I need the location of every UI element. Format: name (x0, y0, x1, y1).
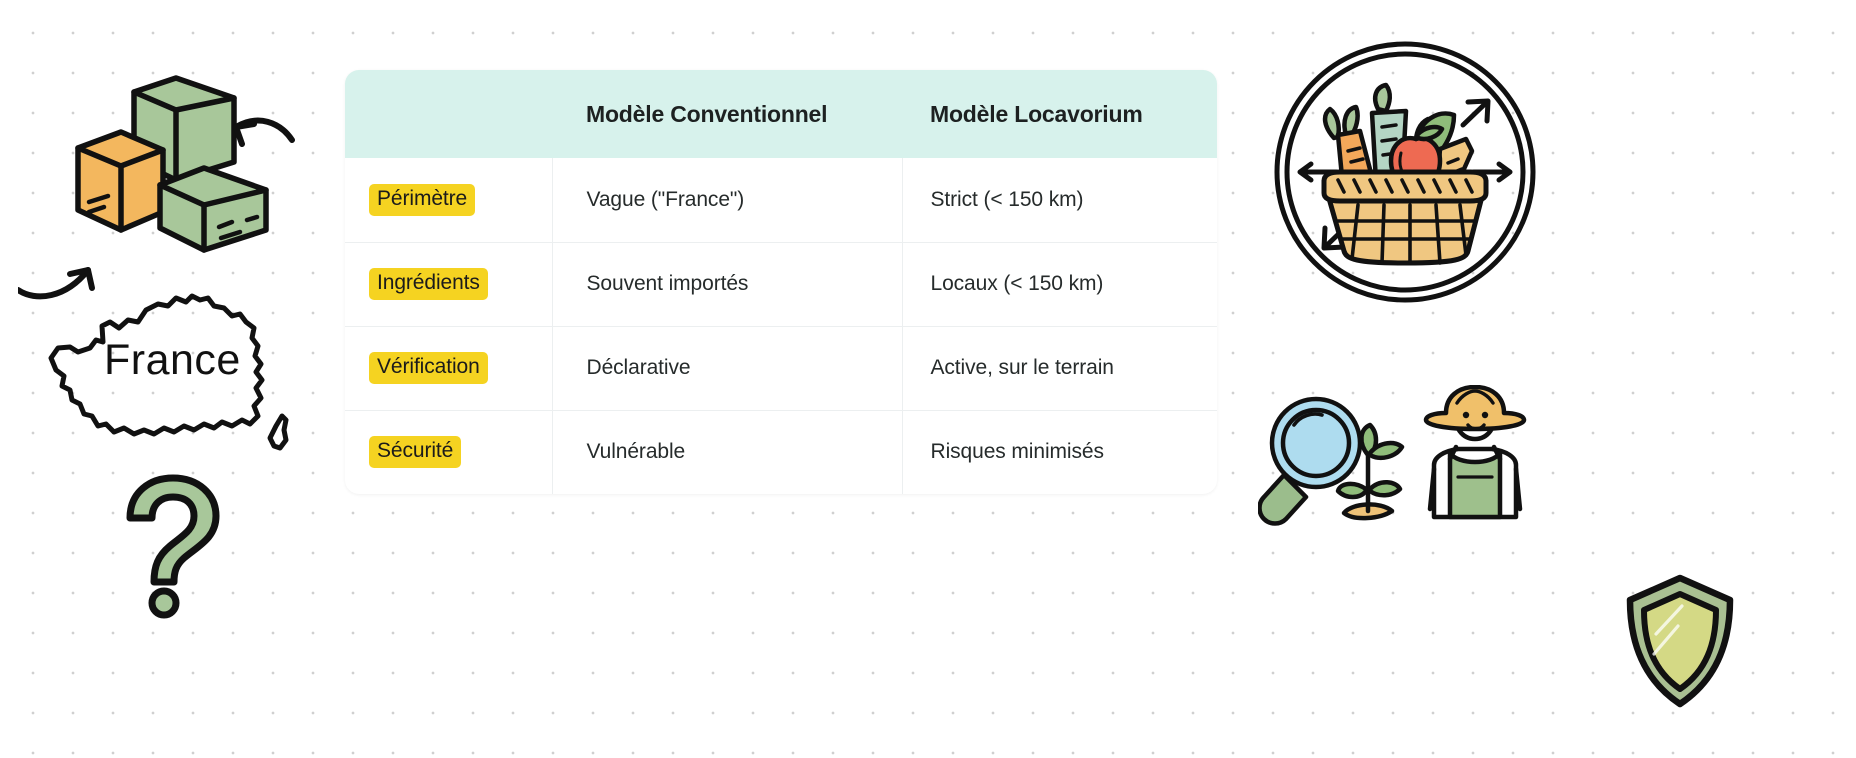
cardboard-boxes-icon (8, 52, 308, 262)
table-row: Sécurité Vulnérable Risques minimisés (345, 410, 1217, 494)
column-header-conventional: Modèle Conventionnel (552, 70, 902, 158)
left-illustration-group: France (0, 0, 345, 758)
conventional-cell: Vague ("France") (552, 158, 902, 242)
security-shield-icon (1620, 572, 1740, 717)
question-mark-icon (110, 470, 240, 625)
field-inspection-icon (1258, 385, 1558, 570)
france-map-label: France (104, 336, 241, 384)
france-map-icon: France (18, 248, 318, 471)
comparison-table: Modèle Conventionnel Modèle Locavorium P… (345, 70, 1217, 494)
conventional-cell: Déclarative (552, 326, 902, 410)
row-attribute-cell: Ingrédients (345, 242, 552, 326)
table-header-row: Modèle Conventionnel Modèle Locavorium (345, 70, 1217, 158)
locavorium-cell: Locaux (< 150 km) (902, 242, 1217, 326)
attribute-chip: Sécurité (369, 436, 461, 468)
locavorium-cell: Active, sur le terrain (902, 326, 1217, 410)
conventional-cell: Souvent importés (552, 242, 902, 326)
locavorium-cell: Strict (< 150 km) (902, 158, 1217, 242)
row-attribute-cell: Sécurité (345, 410, 552, 494)
attribute-chip: Ingrédients (369, 268, 488, 300)
locavorium-cell: Risques minimisés (902, 410, 1217, 494)
attribute-chip: Vérification (369, 352, 488, 384)
row-attribute-cell: Périmètre (345, 158, 552, 242)
row-attribute-cell: Vérification (345, 326, 552, 410)
table-row: Vérification Déclarative Active, sur le … (345, 326, 1217, 410)
column-header-attribute (345, 70, 552, 158)
table-row: Périmètre Vague ("France") Strict (< 150… (345, 158, 1217, 242)
table-row: Ingrédients Souvent importés Locaux (< 1… (345, 242, 1217, 326)
conventional-cell: Vulnérable (552, 410, 902, 494)
right-illustration-group (1240, 0, 1856, 758)
local-food-basket-icon (1260, 35, 1550, 315)
column-header-locavorium: Modèle Locavorium (902, 70, 1217, 158)
attribute-chip: Périmètre (369, 184, 475, 216)
